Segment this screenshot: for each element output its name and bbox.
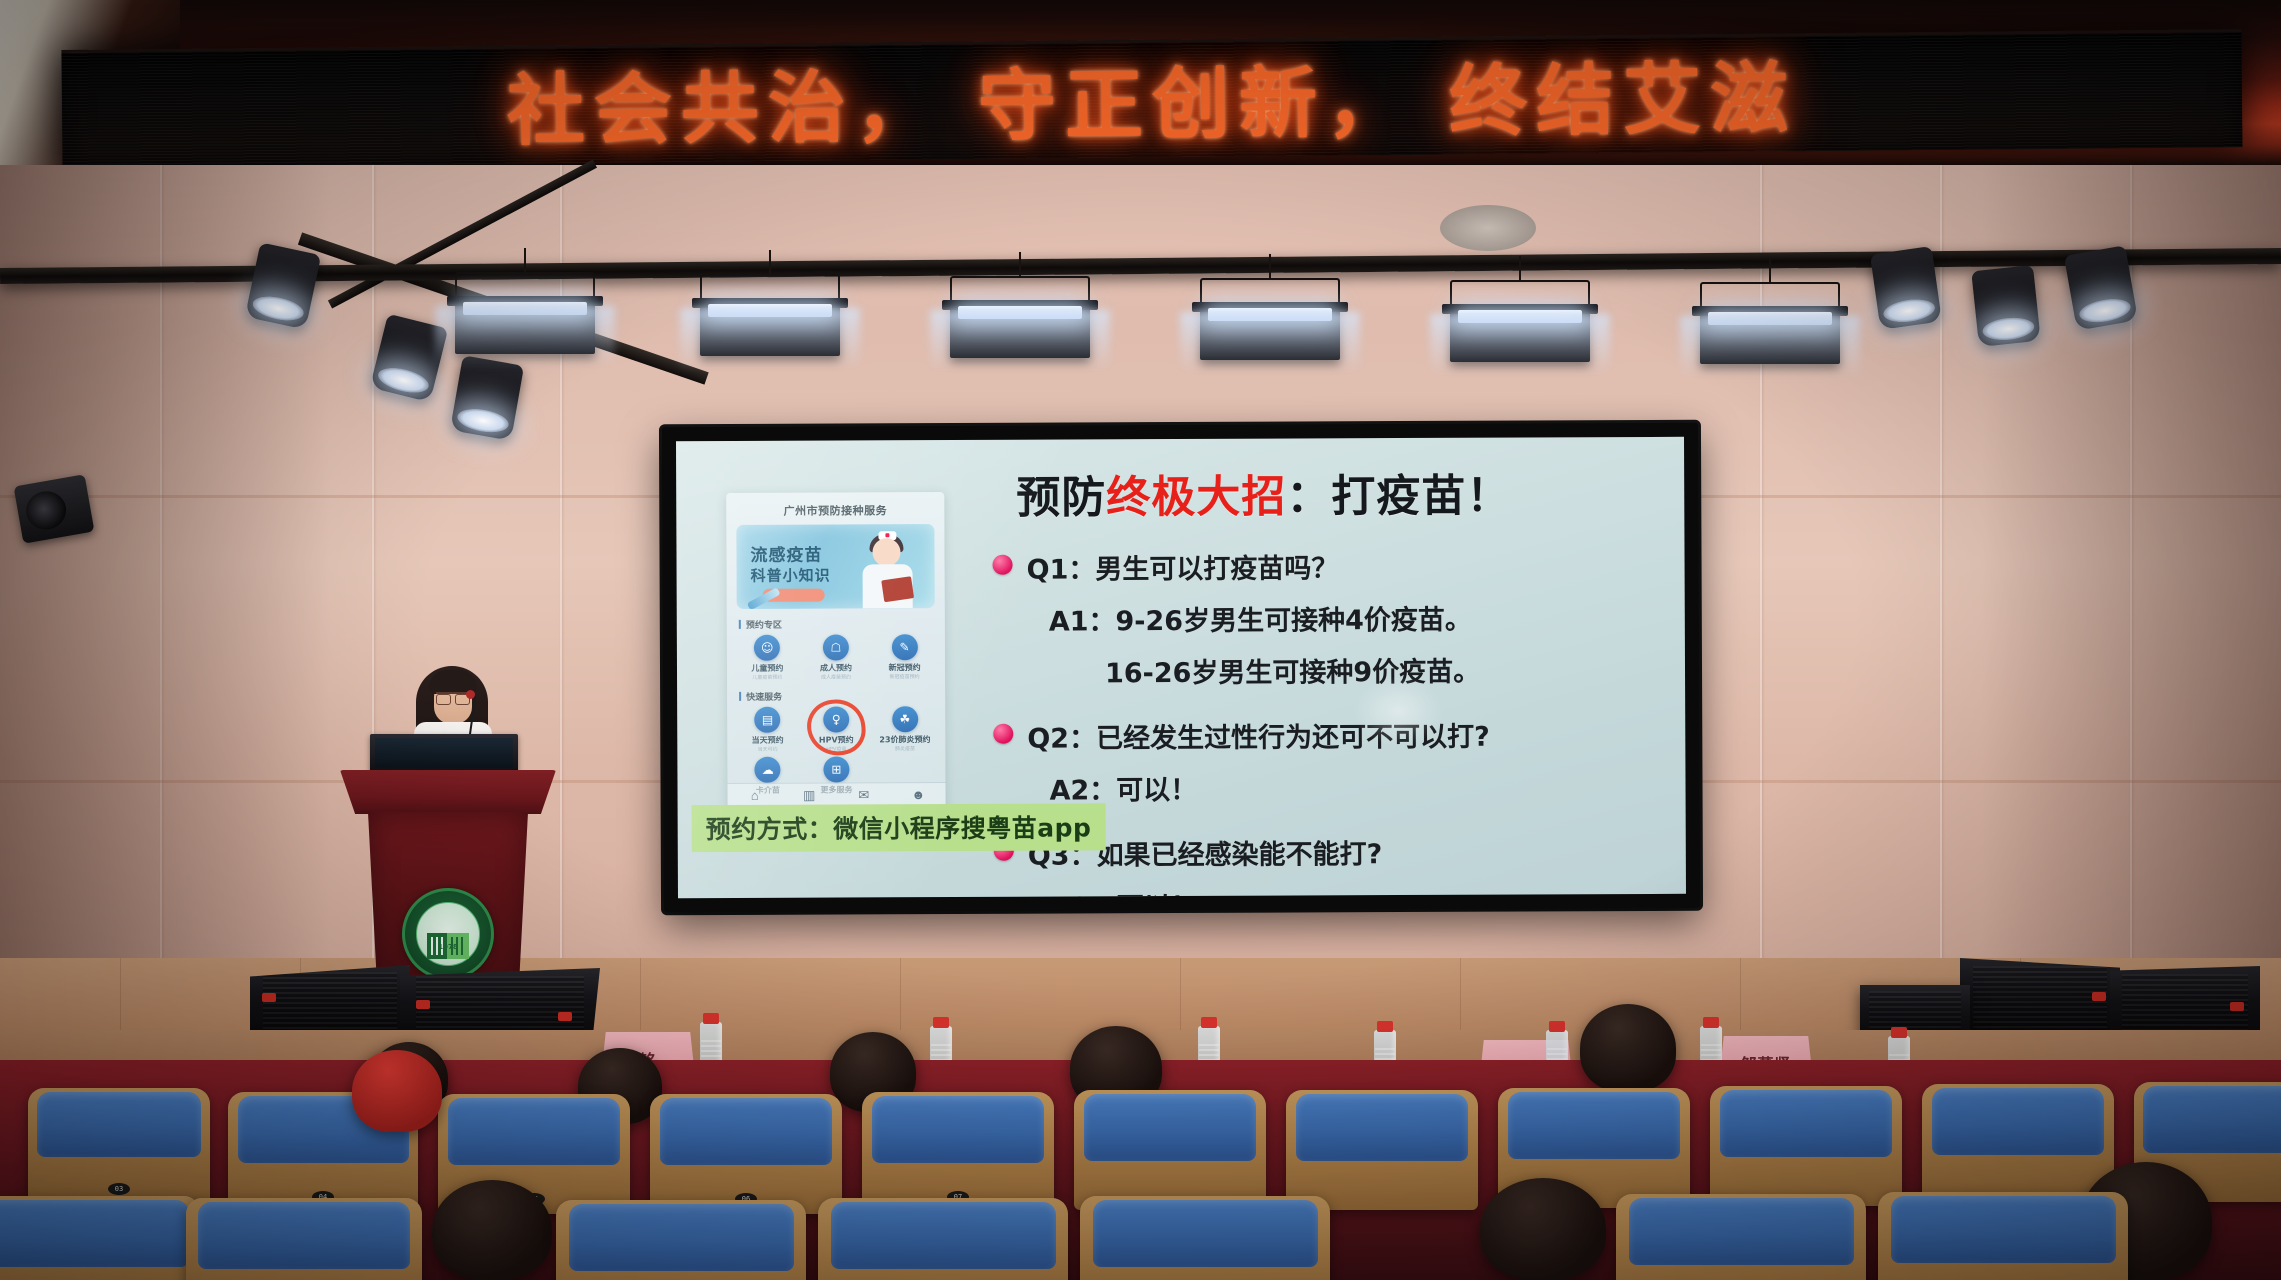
phone-promo-banner: 流感疫苗 科普小知识 xyxy=(736,524,934,609)
slide-title: 预防终极大招：打疫苗！ xyxy=(1016,460,1511,526)
nurse-illustration xyxy=(856,532,930,608)
slide-title-post: ：打疫苗！ xyxy=(1286,471,1511,523)
bullet-icon xyxy=(993,724,1013,744)
projection-screen: 广州市预防接种服务 流感疫苗 科普小知识 预约专区 ☺ 儿 xyxy=(662,423,1700,913)
stage-light-fixture xyxy=(1200,254,1340,364)
home-icon: ⌂ xyxy=(728,789,783,802)
stage-light-fixture xyxy=(1700,258,1840,368)
booking-method-note: 预约方式：微信小程序搜粤苗app xyxy=(692,803,1106,852)
app-icon-child-booking[interactable]: ☺ 儿童预约 儿童疫苗预约 xyxy=(733,635,802,681)
podium: 1978 xyxy=(352,770,544,996)
child-icon: ☺ xyxy=(761,642,774,654)
wall-speaker xyxy=(14,474,95,544)
app-icon-covid-booking[interactable]: ✎ 新冠预约 新冠疫苗预约 xyxy=(870,634,939,680)
slide-title-highlight: 终极大招 xyxy=(1106,472,1286,524)
par-can-light xyxy=(1870,246,1942,330)
app-icon-adult-booking[interactable]: ☖ 成人预约 成人疫苗预约 xyxy=(802,634,871,680)
audience-head xyxy=(1480,1178,1606,1280)
auditorium-scene: 社会共治， 守正创新， 终结艾滋 xyxy=(0,0,2281,1280)
qa-question-text: Q1：男生可以打疫苗吗？ xyxy=(1026,546,1338,586)
emblem-year: 1978 xyxy=(438,943,457,951)
seat-number: 03 xyxy=(108,1183,130,1195)
seat[interactable] xyxy=(556,1200,806,1280)
audience-head xyxy=(432,1180,552,1280)
grid-icon: ⊞ xyxy=(831,763,841,775)
banner-line-1: 流感疫苗 xyxy=(750,541,822,566)
hpv-icon: ♀ xyxy=(832,713,841,725)
clinic-icon: ▥ xyxy=(782,789,837,802)
app-icon-hpv-booking[interactable]: ♀ HPV预约 HPV疫苗 xyxy=(802,706,871,752)
led-banner: 社会共治， 守正创新， 终结艾滋 xyxy=(61,29,2242,168)
seat[interactable]: 07 xyxy=(862,1092,1054,1212)
seat[interactable] xyxy=(1286,1090,1478,1210)
stage-light-fixture xyxy=(455,248,595,358)
phone-header-title: 广州市预防接种服务 xyxy=(726,492,944,525)
adult-icon: ☖ xyxy=(830,641,841,653)
bullet-icon xyxy=(993,555,1013,575)
audience-head-red-cap xyxy=(352,1050,442,1132)
app-icon-sameday-booking[interactable]: ▤ 当天预约 当天可约 xyxy=(733,707,802,753)
qa-item: Q1：男生可以打疫苗吗？ A1：9-26岁男生可接种4价疫苗。 16-26岁男生… xyxy=(992,545,1653,691)
booking-icon-grid: ☺ 儿童预约 儿童疫苗预约 ☖ 成人预约 成人疫苗预约 ✎ 新冠预约 新冠疫苗预… xyxy=(727,634,945,681)
bcg-icon: ☁ xyxy=(762,764,774,776)
seat[interactable] xyxy=(1616,1194,1866,1280)
qa-question-row: Q2：已经发生过性行为还可不可以打? xyxy=(993,714,1653,756)
school-emblem: 1978 xyxy=(402,888,494,980)
covid-icon: ✎ xyxy=(900,641,910,653)
par-can-light xyxy=(1971,265,2041,347)
app-icon-pneumonia-booking[interactable]: ☘ 23价肺炎预约 肺炎疫苗 xyxy=(870,706,939,752)
banner-line-2: 科普小知识 xyxy=(751,565,831,586)
par-can-light xyxy=(450,355,524,441)
qa-answer-text: A2：可以！ xyxy=(1049,766,1653,808)
laptop xyxy=(370,734,518,774)
qa-question-row: Q1：男生可以打疫苗吗？ xyxy=(992,545,1652,587)
pneumonia-icon: ☘ xyxy=(899,713,910,725)
seat[interactable]: 03 xyxy=(28,1088,210,1204)
qa-item: Q2：已经发生过性行为还可不可以打? A2：可以！ xyxy=(993,714,1653,808)
stage-light-fixture xyxy=(1450,256,1590,366)
seat[interactable] xyxy=(818,1198,1068,1280)
stage-monitor-speaker xyxy=(1960,958,2120,1038)
slide-title-pre: 预防 xyxy=(1016,472,1106,523)
seat[interactable] xyxy=(1878,1192,2128,1280)
calendar-icon: ▤ xyxy=(762,714,773,726)
seat[interactable] xyxy=(1074,1090,1266,1210)
qa-question-text: Q2：已经发生过性行为还可不可以打? xyxy=(1027,715,1490,756)
qa-answer-text: A1：9-26岁男生可接种4价疫苗。 xyxy=(1049,597,1653,639)
seat[interactable] xyxy=(1080,1196,1330,1280)
par-can-light xyxy=(2064,245,2138,331)
message-icon: ✉ xyxy=(837,788,892,801)
ceiling-vent xyxy=(1440,205,1536,251)
stage-light-fixture xyxy=(950,252,1090,362)
seat[interactable] xyxy=(0,1196,200,1280)
seat[interactable] xyxy=(1922,1084,2114,1204)
glasses-icon xyxy=(436,692,470,701)
seat[interactable]: 06 xyxy=(650,1094,842,1214)
section-label-quick-service: 快速服务 xyxy=(739,689,945,703)
seat[interactable] xyxy=(186,1198,422,1280)
qa-answer-text: 16-26岁男生可接种9价疫苗。 xyxy=(1105,649,1653,690)
slide-canvas: 广州市预防接种服务 流感疫苗 科普小知识 预约专区 ☺ 儿 xyxy=(676,437,1686,898)
qa-answer-text: A3：可以！ xyxy=(1050,883,1654,898)
profile-icon: ☻ xyxy=(891,788,946,801)
section-label-booking: 预约专区 xyxy=(739,617,945,631)
microphone-icon xyxy=(466,690,475,699)
stage-monitor-speaker xyxy=(250,965,410,1037)
stage-light-fixture xyxy=(700,250,840,360)
audience-head xyxy=(1580,1004,1676,1092)
phone-mockup: 广州市预防接种服务 流感疫苗 科普小知识 预约专区 ☺ 儿 xyxy=(726,492,945,823)
seat[interactable] xyxy=(1710,1086,1902,1206)
led-banner-text: 社会共治， 守正创新， 终结艾滋 xyxy=(506,36,1797,160)
